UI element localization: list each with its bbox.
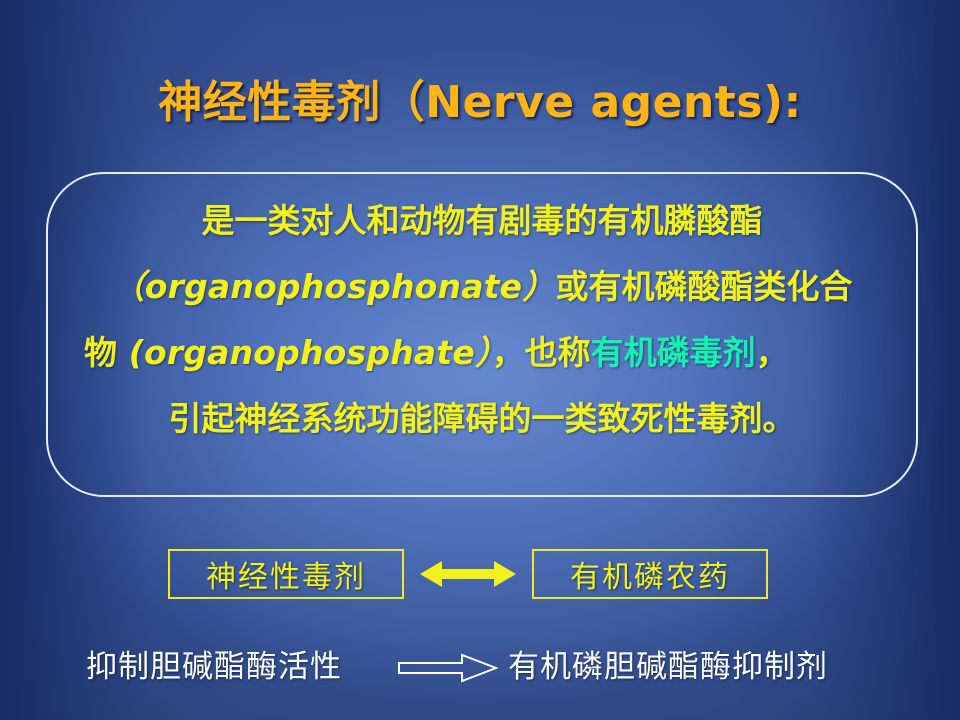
- definition-line-3: 物 (organophosphate），也称有机磷毒剂，: [74, 320, 890, 386]
- definition-line-3-tail: ，: [756, 333, 789, 372]
- organophosphate-term: (organophosphate）: [117, 333, 492, 372]
- definition-line-1: 是一类对人和动物有剧毒的有机膦酸酯: [74, 188, 890, 254]
- definition-line-2-tail: 或有机磷酸酯类化合: [555, 267, 852, 306]
- definition-line-3-head: 物: [84, 333, 117, 372]
- slide-canvas: 神经性毒剂（Nerve agents): 是一类对人和动物有剧毒的有机膦酸酯 （…: [0, 0, 960, 720]
- term-box-organophosphorus-pesticide: 有机磷农药: [532, 549, 768, 599]
- right-arrow-icon: [398, 653, 498, 683]
- term-box-nerve-agent: 神经性毒剂: [168, 549, 404, 599]
- mechanism-result-label: 有机磷胆碱酯酶抑制剂: [508, 641, 828, 686]
- relation-row: 神经性毒剂 有机磷农药: [0, 549, 960, 599]
- definition-line-3-mid: ，也称: [492, 333, 591, 372]
- mechanism-row: 抑制胆碱酯酶活性 有机磷胆碱酯酶抑制剂: [0, 641, 960, 697]
- definition-line-4: 引起神经系统功能障碍的一类致死性毒剂。: [74, 386, 890, 452]
- definition-line-4-text: 引起神经系统功能障碍的一类致死性毒剂。: [169, 399, 796, 438]
- organophosphonate-term: （organophosphonate）: [112, 267, 556, 306]
- page-title: 神经性毒剂（Nerve agents):: [0, 66, 960, 130]
- definition-line-1-text: 是一类对人和动物有剧毒的有机膦酸酯: [202, 201, 763, 240]
- definition-line-2: （organophosphonate）或有机磷酸酯类化合: [74, 254, 890, 320]
- mechanism-cause-label: 抑制胆碱酯酶活性: [86, 641, 342, 686]
- definition-callout-box: 是一类对人和动物有剧毒的有机膦酸酯 （organophosphonate）或有机…: [46, 172, 918, 497]
- term-box-right-label: 有机磷农药: [570, 552, 730, 596]
- double-headed-arrow-icon: [420, 558, 516, 590]
- term-box-left-label: 神经性毒剂: [206, 552, 366, 596]
- highlight-organophosphorus-agent: 有机磷毒剂: [591, 333, 756, 372]
